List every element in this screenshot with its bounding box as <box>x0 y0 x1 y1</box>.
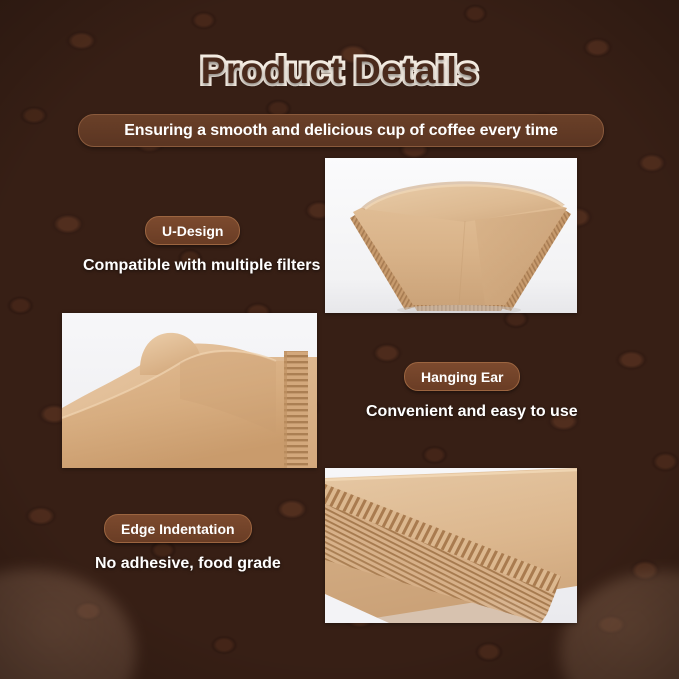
feature-badge-u-design: U-Design <box>145 216 240 245</box>
feature-badge-label: U-Design <box>162 223 223 239</box>
page-title: Product Details <box>0 50 679 92</box>
feature-caption-edge-indentation: No adhesive, food grade <box>95 555 281 573</box>
feature-badge-label: Edge Indentation <box>121 521 235 537</box>
subtitle-banner: Ensuring a smooth and delicious cup of c… <box>78 114 604 147</box>
filter-cone-photo <box>325 158 577 313</box>
feature-caption-hanging-ear: Convenient and easy to use <box>366 403 578 421</box>
edge-indentation-photo <box>325 468 577 623</box>
product-details-poster: Product Details Ensuring a smooth and de… <box>0 0 679 679</box>
feature-badge-edge-indentation: Edge Indentation <box>104 514 252 543</box>
feature-badge-label: Hanging Ear <box>421 369 503 385</box>
subtitle-text: Ensuring a smooth and delicious cup of c… <box>124 122 558 140</box>
hanging-ear-photo <box>62 313 317 468</box>
feature-caption-u-design: Compatible with multiple filters <box>83 257 320 275</box>
feature-badge-hanging-ear: Hanging Ear <box>404 362 520 391</box>
